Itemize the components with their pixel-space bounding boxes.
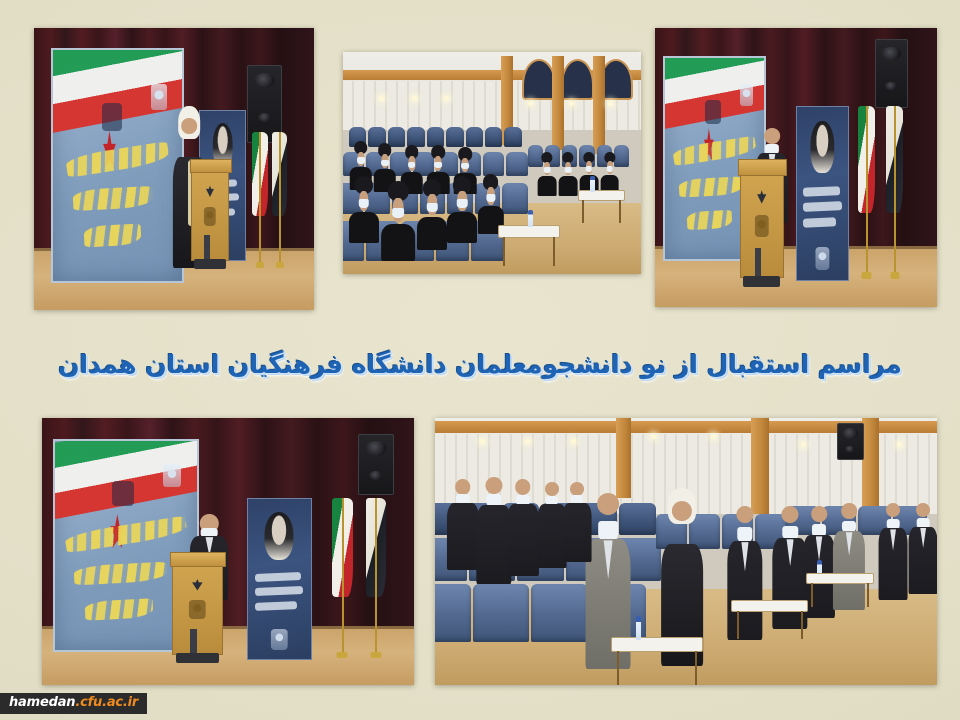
university-seal-icon — [755, 215, 769, 237]
arched-window — [522, 59, 556, 101]
banner-text-line-2 — [73, 562, 167, 586]
organization-pole-flag — [272, 132, 287, 267]
head — [545, 482, 559, 496]
rollup-text-2 — [803, 201, 842, 211]
standing-student — [566, 482, 589, 562]
banner-text-line-2 — [73, 186, 154, 211]
standing-student — [510, 479, 535, 575]
iran-pole-flag — [332, 498, 352, 658]
crest-icon — [112, 481, 135, 506]
seat — [483, 152, 504, 176]
rollup-seal-icon — [816, 247, 829, 269]
head — [597, 493, 619, 515]
flag-stand — [890, 272, 899, 279]
podium-top — [190, 159, 233, 173]
low-table — [806, 573, 873, 584]
hall-pillar — [593, 56, 605, 154]
leader-portrait-icon — [265, 512, 294, 560]
head — [736, 506, 753, 523]
banner-text-line-1 — [65, 141, 170, 178]
attendee — [420, 179, 444, 250]
crest-icon — [102, 103, 123, 131]
photo-top-right[interactable] — [655, 28, 937, 307]
university-seal-icon — [189, 600, 205, 619]
low-table — [578, 190, 625, 201]
podium-top — [738, 159, 787, 176]
head — [764, 128, 780, 144]
standing-student — [480, 477, 508, 584]
rollup-seal-icon — [271, 629, 287, 650]
seat — [446, 127, 463, 147]
standing-attendee — [882, 503, 905, 599]
low-table — [611, 637, 703, 652]
flag-pole — [375, 498, 377, 652]
rollup-text-1 — [255, 572, 301, 582]
head — [182, 118, 198, 134]
attendee — [540, 152, 555, 196]
organization-pole-flag — [886, 106, 903, 279]
banner-text-line-2 — [679, 177, 743, 198]
university-seal-icon — [204, 207, 216, 226]
seat — [466, 127, 483, 147]
pa-speaker-icon — [875, 39, 908, 108]
iran-emblem-icon — [205, 185, 214, 197]
podium-stripe — [204, 235, 209, 260]
low-table — [731, 600, 808, 613]
low-table — [498, 225, 560, 238]
hall-pillar — [751, 418, 769, 514]
standing-attendee — [912, 503, 935, 594]
photo-top-center[interactable] — [343, 52, 641, 274]
water-bottle-icon — [528, 210, 533, 228]
water-bottle-icon — [636, 616, 641, 640]
attendee — [352, 176, 376, 243]
flag-pole — [866, 106, 868, 272]
university-logo-icon — [163, 464, 181, 487]
seat — [504, 127, 521, 147]
jacket — [562, 503, 591, 562]
stage-scene-official — [42, 418, 414, 685]
podium-base — [194, 259, 226, 269]
podium-base — [176, 653, 219, 663]
photo-collage: مراسم استقبال از نو دانشجومعلمان دانشگاه… — [0, 0, 960, 720]
title-bar: مراسم استقبال از نو دانشجومعلمان دانشگاه… — [0, 338, 960, 390]
hall-pillar — [552, 56, 564, 149]
seat — [506, 152, 527, 176]
ceiling-light-icon — [897, 442, 902, 447]
head — [782, 506, 799, 523]
podium — [191, 163, 229, 261]
seat — [502, 183, 528, 214]
jacket — [447, 503, 479, 570]
ceiling-light-icon — [571, 439, 576, 444]
watermark-site-name: hamedan — [9, 695, 75, 710]
pa-speaker-icon — [837, 423, 864, 460]
iran-emblem-icon — [191, 579, 204, 591]
podium — [172, 557, 222, 655]
podium-stripe — [190, 629, 197, 654]
seat — [473, 584, 529, 643]
photo-bottom-right[interactable] — [435, 418, 937, 685]
rollup-banner-portrait — [796, 106, 849, 281]
photo-top-left[interactable] — [34, 28, 314, 310]
jacket — [507, 504, 539, 575]
attendee — [602, 152, 617, 194]
stage-scene-speaker — [655, 28, 937, 307]
seat — [531, 584, 587, 643]
flag-pole — [279, 132, 281, 262]
crest-icon — [705, 100, 721, 124]
podium-base — [743, 276, 780, 287]
flag-pole — [342, 498, 344, 652]
flag-pole — [894, 106, 896, 272]
head — [841, 503, 857, 519]
flag-stand — [276, 262, 284, 267]
banner-text-line-3 — [687, 209, 733, 229]
head — [485, 477, 502, 494]
page-title: مراسم استقبال از نو دانشجومعلمان دانشگاه… — [58, 350, 902, 379]
head — [515, 479, 531, 495]
podium-top — [170, 552, 226, 566]
auditorium-scene-seated — [343, 52, 641, 274]
flag-stand — [370, 652, 381, 658]
event-banner — [51, 48, 184, 283]
pa-speaker-icon — [358, 434, 393, 495]
seat — [435, 584, 471, 643]
organization-pole-flag — [366, 498, 386, 658]
hall-pillar — [862, 418, 880, 519]
university-logo-icon — [740, 84, 753, 106]
head — [811, 506, 827, 522]
iran-pole-flag — [858, 106, 875, 279]
pa-speaker-icon — [247, 65, 283, 143]
watermark-domain: .cfu.ac.ir — [75, 695, 138, 710]
rollup-text-1 — [803, 186, 840, 196]
rollup-banner-portrait — [247, 498, 312, 660]
banner-text-line-3 — [83, 224, 141, 248]
flag-stand — [862, 272, 871, 279]
flag-stand — [337, 652, 348, 658]
head — [455, 479, 471, 495]
attendee — [385, 181, 412, 261]
banner-text-line-3 — [84, 598, 153, 620]
rollup-text-3 — [255, 601, 297, 611]
ceiling-light-icon — [528, 101, 533, 106]
auditorium-scene-standing — [435, 418, 937, 685]
standing-student — [540, 482, 563, 567]
flag-stand — [256, 262, 264, 267]
attendee — [450, 176, 474, 243]
seat — [485, 127, 502, 147]
head — [916, 503, 930, 517]
stage-scene-cleric — [34, 28, 314, 310]
rollup-text-2 — [255, 586, 303, 596]
banner-text-line-1 — [64, 515, 187, 553]
flag-pole — [259, 132, 261, 262]
podium — [740, 165, 784, 279]
podium-stripe — [755, 248, 761, 277]
ceiling-light-icon — [651, 434, 656, 439]
iran-emblem-icon — [756, 190, 767, 203]
leader-portrait-icon — [811, 121, 834, 173]
standing-student — [450, 479, 475, 570]
water-bottle-icon — [590, 176, 595, 192]
head — [886, 503, 900, 517]
hall-pillar — [616, 418, 631, 498]
ceiling-light-icon — [412, 96, 417, 101]
site-watermark: hamedan.cfu.ac.ir — [0, 693, 147, 714]
attendee — [561, 152, 576, 196]
photo-bottom-left[interactable] — [42, 418, 414, 685]
university-logo-icon — [151, 84, 168, 109]
rollup-text-3 — [803, 217, 837, 227]
iran-pole-flag — [252, 132, 267, 267]
